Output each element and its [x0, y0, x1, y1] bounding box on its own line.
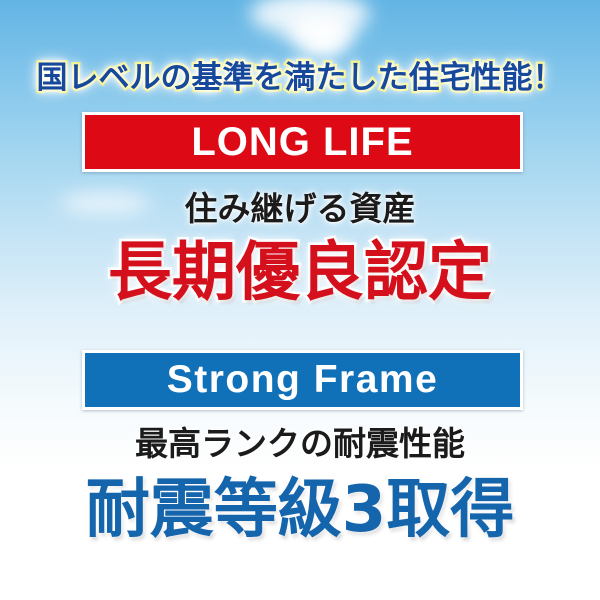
promo-banner: 国レベルの基準を満たした住宅性能！ LONG LIFE 住み継げる資産 長期優良… [0, 0, 600, 600]
page-title: 国レベルの基準を満たした住宅性能！ [0, 58, 600, 98]
subtitle-strong-frame: 最高ランクの耐震性能 [0, 424, 600, 464]
band-strong-frame: Strong Frame [82, 350, 523, 410]
subtitle-long-life: 住み継げる資産 [0, 189, 600, 229]
band-long-life-label: LONG LIFE [191, 120, 413, 164]
bigtext-strong-frame: 耐震等級3取得 [0, 474, 600, 546]
band-long-life: LONG LIFE [82, 112, 523, 172]
bigtext-long-life: 長期優良認定 [0, 237, 600, 309]
band-strong-frame-label: Strong Frame [167, 358, 439, 402]
